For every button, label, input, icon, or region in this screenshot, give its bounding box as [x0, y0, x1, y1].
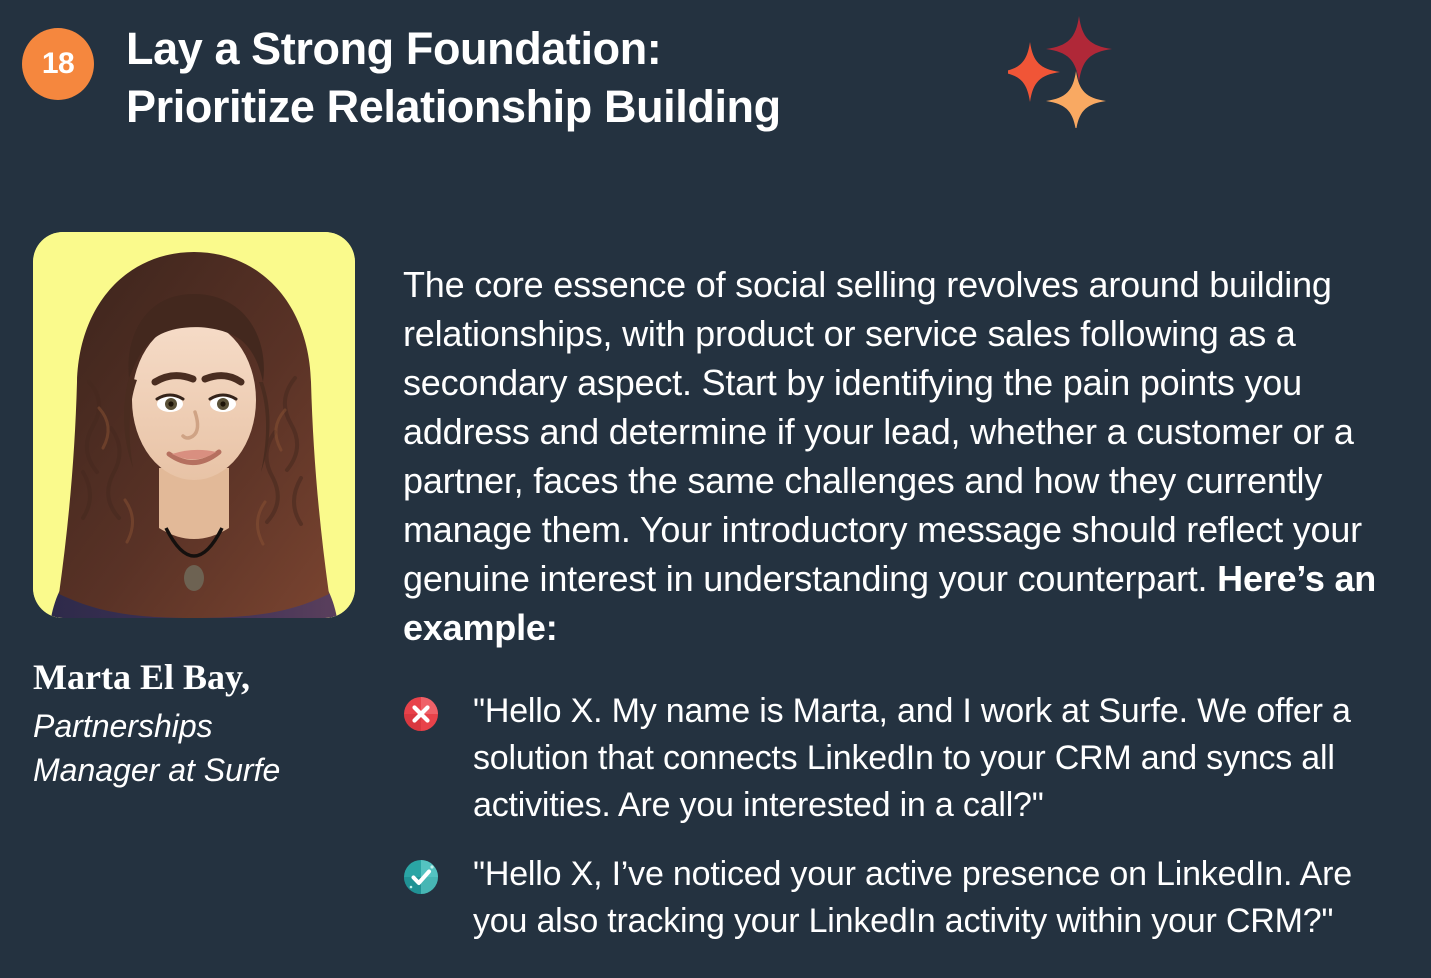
cross-circle-icon: [403, 696, 439, 732]
example-good-text: "Hello X, I’ve noticed your active prese…: [473, 851, 1403, 945]
examples-list: "Hello X. My name is Marta, and I work a…: [403, 688, 1403, 945]
check-circle-icon: [403, 859, 439, 895]
person-panel: Marta El Bay, Partnerships Manager at Su…: [33, 232, 357, 792]
body-paragraph: The core essence of social selling revol…: [403, 260, 1403, 652]
step-number-badge: 18: [22, 28, 94, 100]
person-role: Partnerships Manager at Surfe: [33, 704, 333, 792]
sparkles-icon: [1008, 8, 1118, 128]
list-item: "Hello X. My name is Marta, and I work a…: [403, 688, 1403, 829]
example-bad-text: "Hello X. My name is Marta, and I work a…: [473, 688, 1403, 829]
page-title: Lay a Strong Foundation: Prioritize Rela…: [126, 20, 986, 136]
person-name: Marta El Bay,: [33, 656, 357, 698]
content-panel: The core essence of social selling revol…: [403, 224, 1403, 967]
page-header: 18 Lay a Strong Foundation: Prioritize R…: [0, 0, 1431, 175]
step-number-label: 18: [42, 47, 74, 81]
list-item: "Hello X, I’ve noticed your active prese…: [403, 851, 1403, 945]
portrait-photo: [33, 232, 355, 618]
avatar: [33, 232, 355, 618]
body-paragraph-lead: The core essence of social selling revol…: [403, 264, 1362, 599]
